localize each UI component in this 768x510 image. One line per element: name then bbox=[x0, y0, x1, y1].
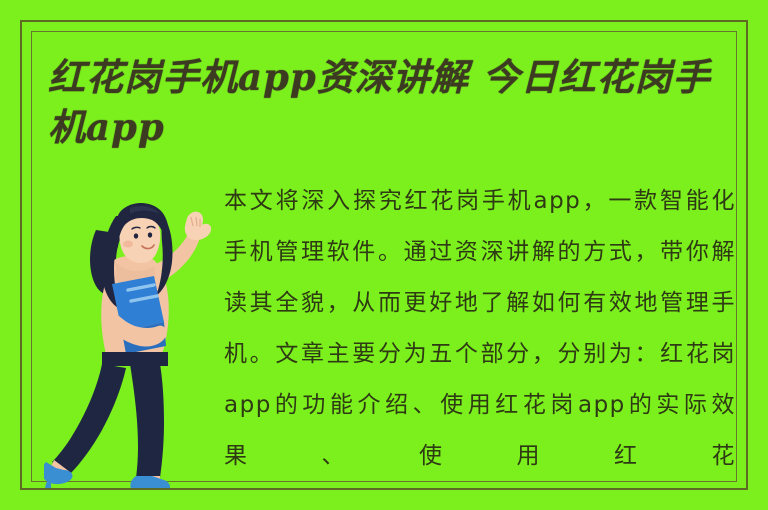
shoe-right-icon bbox=[130, 476, 170, 488]
illustration-walking-woman bbox=[44, 168, 234, 488]
page-title: 红花岗手机app资深讲解 今日红花岗手机app bbox=[48, 52, 716, 152]
walking-woman-icon bbox=[44, 168, 234, 488]
article-body: 本文将深入探究红花岗手机app，一款智能化手机管理软件。通过资深讲解的方式，带你… bbox=[224, 176, 736, 510]
